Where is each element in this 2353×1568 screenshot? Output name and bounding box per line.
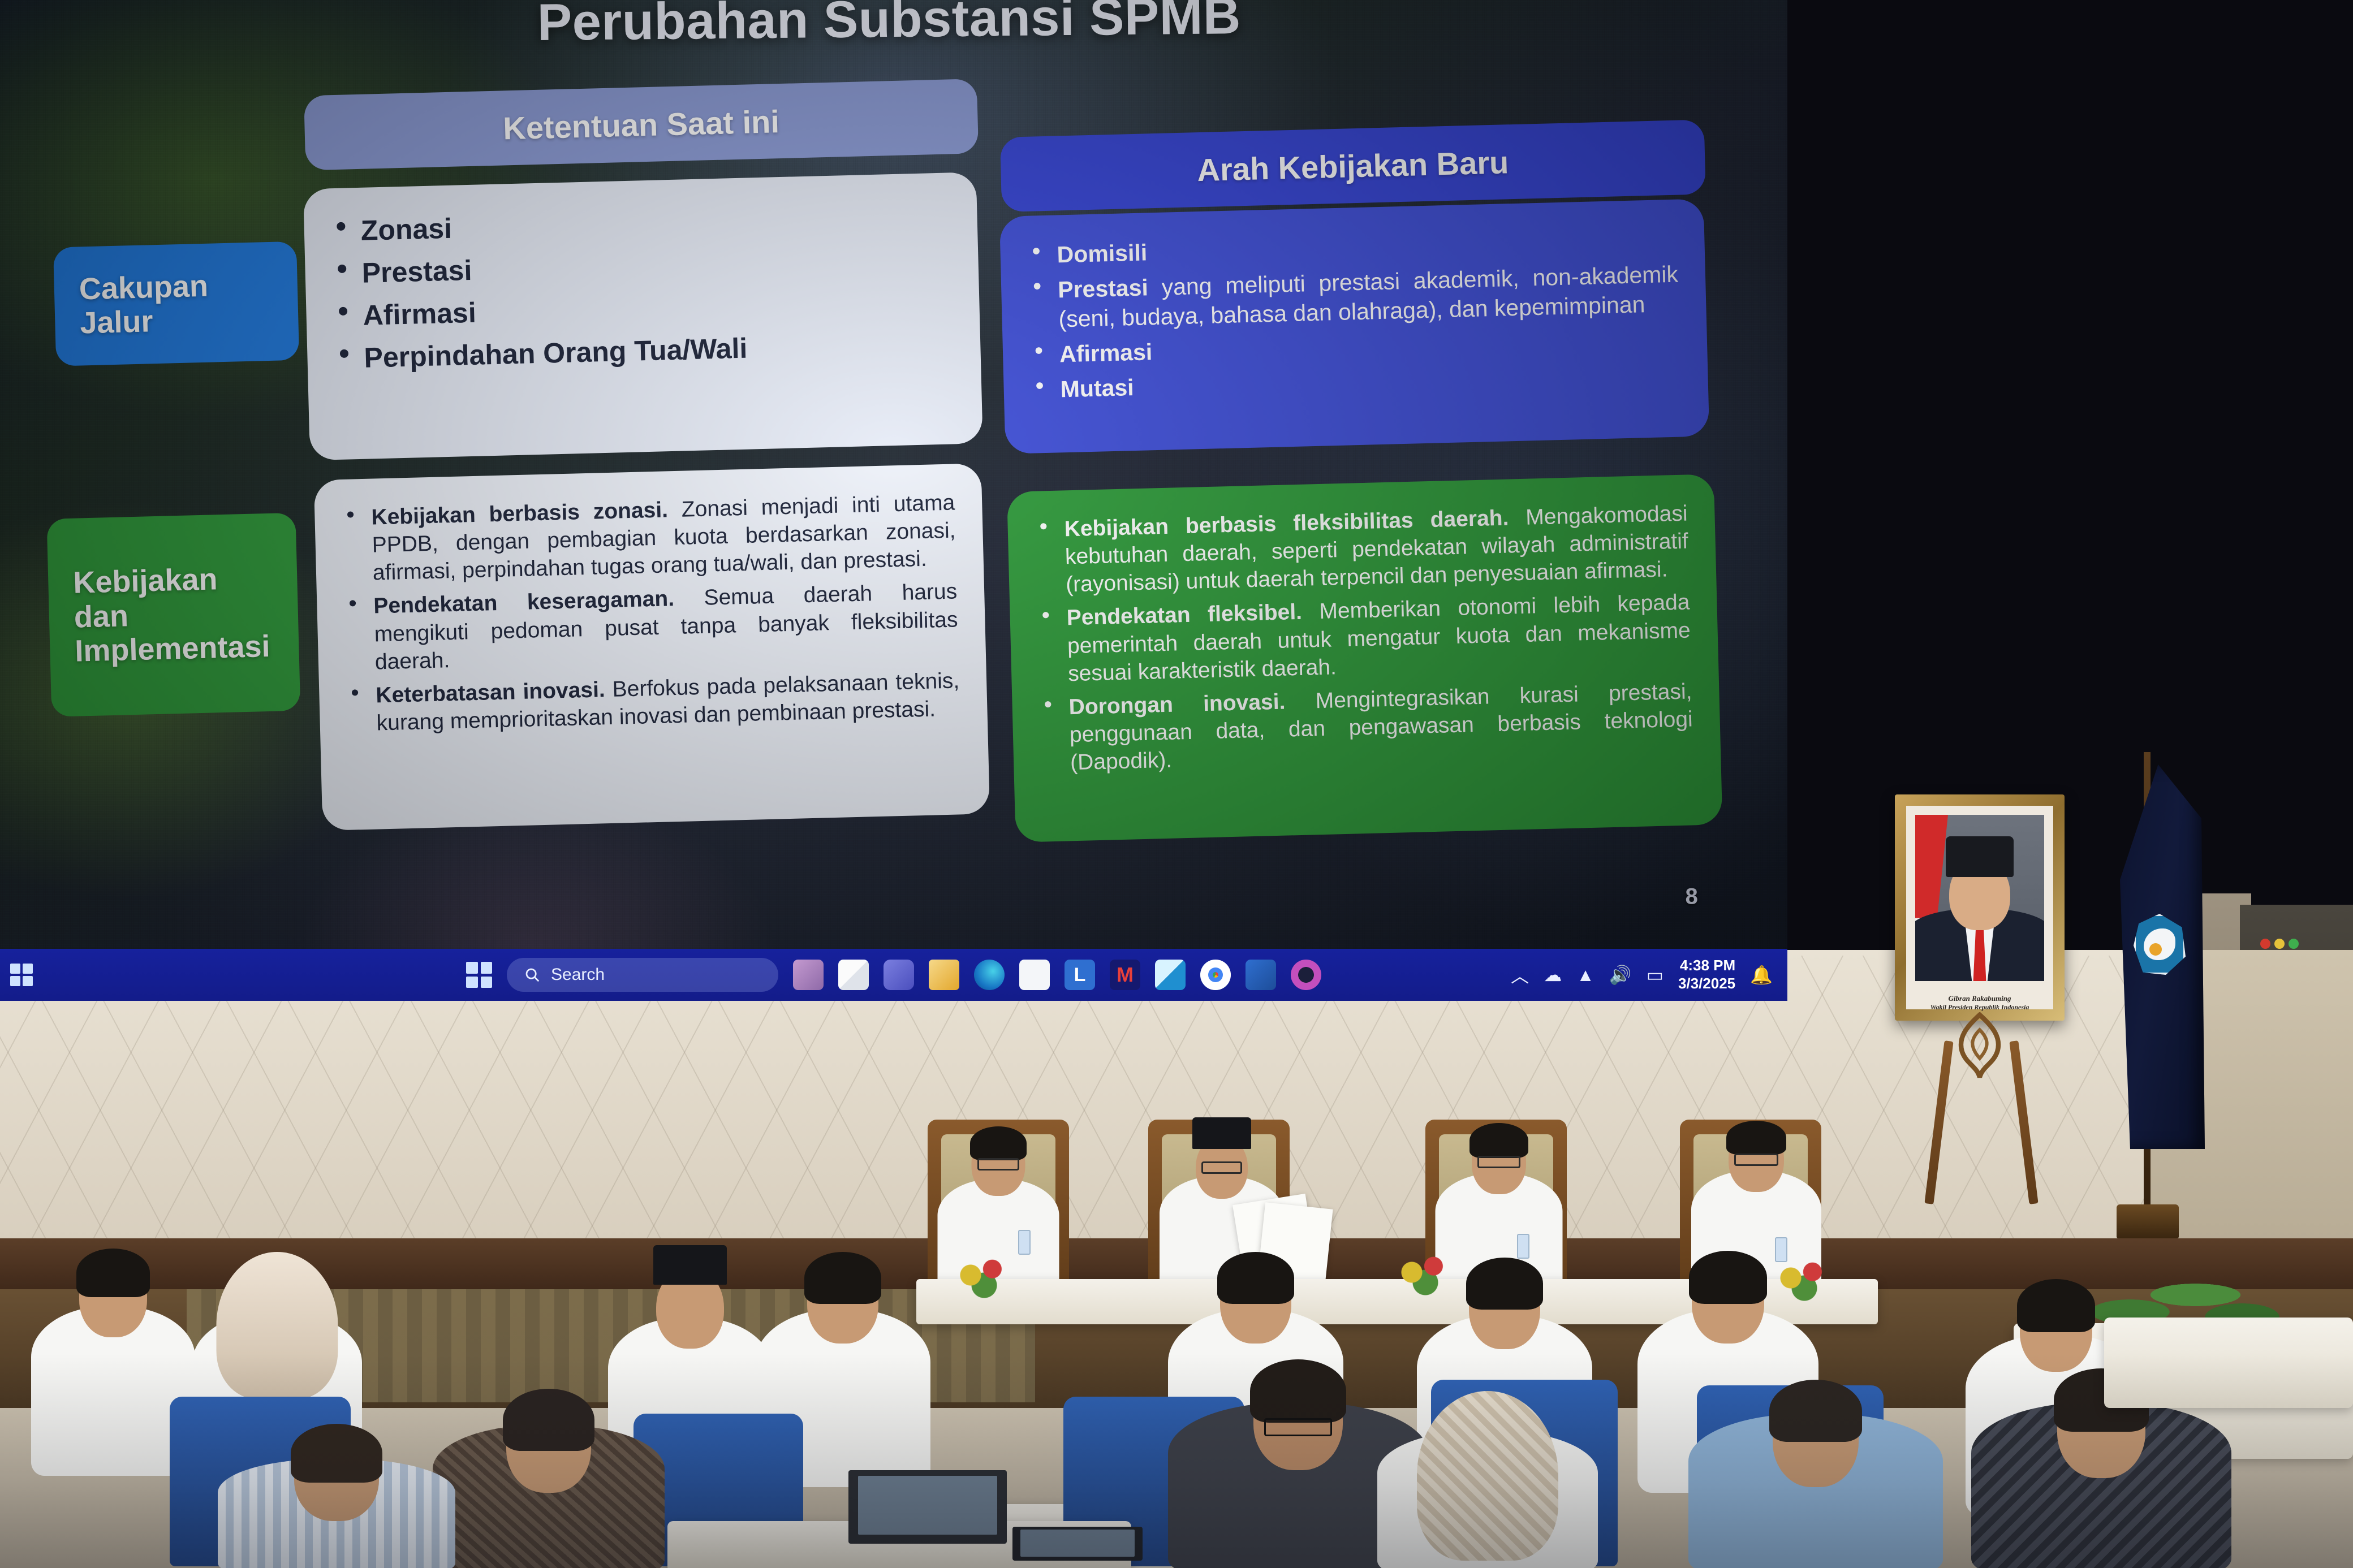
- logo-pane: [23, 976, 33, 986]
- audience-hair: [804, 1252, 881, 1304]
- list-item-bold: Dorongan inovasi.: [1068, 689, 1286, 719]
- row-label-kebijakan-text: Kebijakan dan Implementasi: [73, 561, 271, 668]
- teams-icon[interactable]: [884, 960, 914, 990]
- easel-leg: [2009, 1040, 2038, 1204]
- peci-cap-icon: [653, 1245, 727, 1285]
- google-chrome-icon[interactable]: [1200, 960, 1231, 990]
- onedrive-offline-icon[interactable]: ☁: [1544, 964, 1562, 986]
- row-label-cakupan-jalur: Cakupan Jalur: [53, 241, 299, 366]
- audience-hair: [1217, 1252, 1294, 1304]
- slide-title: Perubahan Substansi SPMB: [0, 0, 1783, 58]
- indicator-lights: [2257, 933, 2302, 954]
- list-item: Keterbatasan inovasi. Berfokus pada pela…: [346, 667, 960, 738]
- logo-pane: [10, 964, 20, 974]
- hijab-icon: [1417, 1391, 1558, 1561]
- portrait-photo: [1915, 815, 2044, 981]
- linkedin-icon[interactable]: L: [1065, 960, 1095, 990]
- system-tray: ︿ ☁ ▲ 🔊 ▭ 4:38 PM 3/3/2025 🔔: [1511, 957, 1773, 992]
- notification-bell-icon[interactable]: 🔔: [1750, 964, 1773, 986]
- tray-date: 3/3/2025: [1678, 975, 1735, 993]
- windows-start-button[interactable]: [466, 962, 492, 988]
- eyeglasses-icon: [1201, 1161, 1242, 1174]
- search-icon: [524, 966, 541, 983]
- logo-pane: [10, 976, 20, 986]
- eyeglasses-icon: [1734, 1154, 1778, 1166]
- laptop: [1012, 1527, 1143, 1561]
- list-item-bold: Afirmasi: [1059, 339, 1153, 367]
- eyeglasses-icon: [1477, 1156, 1520, 1168]
- card-new-cakupan-jalur: Domisili Prestasi yang meliputi prestasi…: [999, 198, 1709, 453]
- audience-hair: [503, 1389, 594, 1451]
- logo-pane: [23, 964, 33, 974]
- slide-page-number: 8: [1685, 884, 1698, 909]
- audience-hair: [76, 1249, 150, 1297]
- list-item: Pendekatan keseragaman. Semua daerah har…: [344, 578, 959, 677]
- windows-taskbar[interactable]: Search L M ︿ ☁ ▲ 🔊 ▭: [0, 949, 1787, 1001]
- microsoft-edge-icon[interactable]: [974, 960, 1005, 990]
- audience-member-front-hijab: [1374, 1385, 1601, 1568]
- show-desktop-icon[interactable]: [10, 964, 33, 986]
- chevron-up-icon[interactable]: ︿: [1511, 962, 1529, 988]
- logo-pane: [481, 977, 493, 988]
- audience-member-front: [430, 1385, 667, 1568]
- logo-pane: [481, 962, 493, 974]
- emblem-bird-icon: [2144, 928, 2175, 960]
- eyeglasses-icon: [1264, 1418, 1332, 1436]
- list-item: Kebijakan berbasis fleksibilitas daerah.…: [1035, 500, 1689, 600]
- volume-icon[interactable]: 🔊: [1609, 964, 1632, 986]
- audience-hair: [1466, 1258, 1543, 1310]
- wifi-icon[interactable]: ▲: [1576, 965, 1594, 986]
- taskbar-search-placeholder: Search: [551, 965, 605, 984]
- list-item-bold: Domisili: [1057, 239, 1148, 267]
- bullet-list-current-kebijakan: Kebijakan berbasis zonasi. Zonasi menjad…: [342, 489, 960, 737]
- framed-portrait: Gibran Rakabuming Wakil Presiden Republi…: [1895, 794, 2065, 1021]
- list-item-bold: Kebijakan berbasis zonasi.: [371, 498, 669, 529]
- column-header-new-policy: Arah Kebijakan Baru: [1000, 119, 1706, 211]
- clock-widget[interactable]: 4:38 PM 3/3/2025: [1678, 957, 1735, 992]
- panelist-hair: [1469, 1123, 1528, 1158]
- audience-hair: [1250, 1359, 1346, 1423]
- portrait-easel-stand: [1923, 1012, 2036, 1204]
- tray-time: 4:38 PM: [1678, 957, 1735, 975]
- card-current-cakupan-jalur: Zonasi Prestasi Afirmasi Perpindahan Ora…: [303, 172, 983, 460]
- peci-cap-icon: [1946, 836, 2014, 877]
- battery-icon[interactable]: ▭: [1647, 964, 1664, 986]
- file-explorer-icon[interactable]: [838, 960, 869, 990]
- list-item: Kebijakan berbasis zonasi. Zonasi menjad…: [342, 489, 956, 588]
- widgets-weather-icon[interactable]: [793, 960, 824, 990]
- taskbar-app-group: Search L M: [466, 958, 1321, 992]
- projection-screen: Perubahan Substansi SPMB Ketentuan Saat …: [0, 0, 1787, 1001]
- media-player-icon[interactable]: [1291, 960, 1321, 990]
- peci-cap-icon: [1192, 1117, 1251, 1149]
- row-label-cakupan-jalur-text: Cakupan Jalur: [79, 269, 209, 340]
- audience-desk: [2104, 1318, 2353, 1408]
- adobe-illustrator-icon[interactable]: [1155, 960, 1186, 990]
- portrait-name: Gibran Rakabuming: [1915, 994, 2044, 1003]
- list-item: Prestasi yang meliputi prestasi akademik…: [1028, 260, 1679, 335]
- audience-hair: [1689, 1251, 1767, 1304]
- portrait-role: Wakil Presiden Republik Indonesia: [1915, 1003, 2044, 1012]
- microsoft-store-icon[interactable]: [1019, 960, 1050, 990]
- logo-pane: [466, 977, 478, 988]
- easel-ornament-icon: [1946, 1012, 2014, 1080]
- bullet-list-current-jalur: Zonasi Prestasi Afirmasi Perpindahan Ora…: [331, 197, 954, 377]
- indicator-light-yellow: [2274, 939, 2285, 949]
- audience-member-front: [215, 1431, 458, 1568]
- indicator-light-green: [2289, 939, 2299, 949]
- row-label-kebijakan-implementasi: Kebijakan dan Implementasi: [47, 513, 301, 717]
- card-new-kebijakan: Kebijakan berbasis fleksibilitas daerah.…: [1007, 474, 1722, 842]
- column-header-current: Ketentuan Saat ini: [304, 79, 979, 170]
- audience-row-front: [0, 1318, 2353, 1568]
- list-item-bold: Pendekatan fleksibel.: [1066, 600, 1302, 630]
- taskbar-search-box[interactable]: Search: [507, 958, 778, 992]
- audience-hair: [291, 1424, 382, 1483]
- list-item: Perpindahan Orang Tua/Wali: [334, 325, 954, 377]
- panelist-hair: [1726, 1121, 1786, 1155]
- photos-icon[interactable]: [1246, 960, 1276, 990]
- card-current-kebijakan: Kebijakan berbasis zonasi. Zonasi menjad…: [314, 463, 990, 831]
- slide-content: Perubahan Substansi SPMB Ketentuan Saat …: [0, 0, 1787, 1001]
- taskbar-left-group: [10, 964, 33, 986]
- audience-hair: [1769, 1380, 1862, 1442]
- portrait-caption: Gibran Rakabuming Wakil Presiden Republi…: [1915, 994, 2044, 1012]
- list-item: Pendekatan fleksibel. Memberikan otonomi…: [1037, 589, 1691, 689]
- list-item-bold: Keterbatasan inovasi.: [376, 677, 605, 707]
- list-item-rest: yang meliputi prestasi akademik, non-aka…: [1058, 261, 1678, 332]
- list-item-bold: Pendekatan keseragaman.: [373, 586, 675, 618]
- folder-icon[interactable]: [929, 960, 959, 990]
- audience-member-front: [1686, 1374, 1946, 1568]
- conference-room-scene: Perubahan Substansi SPMB Ketentuan Saat …: [0, 0, 2353, 1568]
- list-item-bold: Mutasi: [1060, 374, 1134, 402]
- eyeglasses-icon: [977, 1158, 1019, 1170]
- bullet-list-new-jalur: Domisili Prestasi yang meliputi prestasi…: [1027, 224, 1681, 405]
- mozilla-icon[interactable]: M: [1110, 960, 1140, 990]
- list-item: Dorongan inovasi. Mengintegrasikan kuras…: [1039, 677, 1693, 777]
- bullet-list-new-kebijakan: Kebijakan berbasis fleksibilitas daerah.…: [1035, 500, 1693, 777]
- list-item-bold: Prestasi: [1058, 274, 1149, 303]
- panelist-hair: [970, 1126, 1027, 1160]
- indicator-light-red: [2260, 939, 2270, 949]
- logo-pane: [466, 962, 478, 974]
- laptop: [848, 1470, 1007, 1544]
